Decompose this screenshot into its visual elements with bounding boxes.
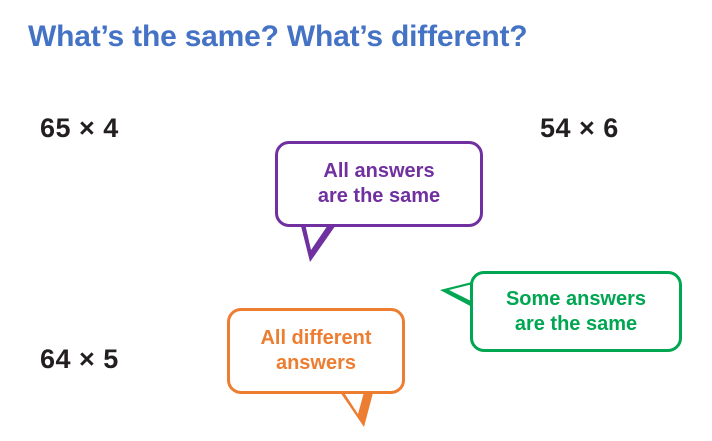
- worksheet-page: What’s the same? What’s different? 65 × …: [0, 0, 712, 441]
- expression-54x6: 54 × 6: [540, 113, 619, 144]
- expression-64x5: 64 × 5: [40, 344, 119, 375]
- speech-bubble-green: Some answers are the same: [470, 271, 682, 352]
- speech-bubble-orange-line-2: answers: [276, 351, 356, 376]
- speech-bubble-green-line-2: are the same: [515, 312, 637, 337]
- expression-65x4: 65 × 4: [40, 113, 119, 144]
- speech-bubble-orange-line-1: All different: [260, 326, 371, 351]
- page-title: What’s the same? What’s different?: [28, 20, 527, 54]
- speech-bubble-purple-line-1: All answers: [323, 159, 434, 184]
- speech-bubble-purple: All answers are the same: [275, 141, 483, 227]
- speech-bubble-purple-line-2: are the same: [318, 184, 440, 209]
- speech-bubble-orange: All different answers: [227, 308, 405, 394]
- speech-bubble-green-line-1: Some answers: [506, 287, 646, 312]
